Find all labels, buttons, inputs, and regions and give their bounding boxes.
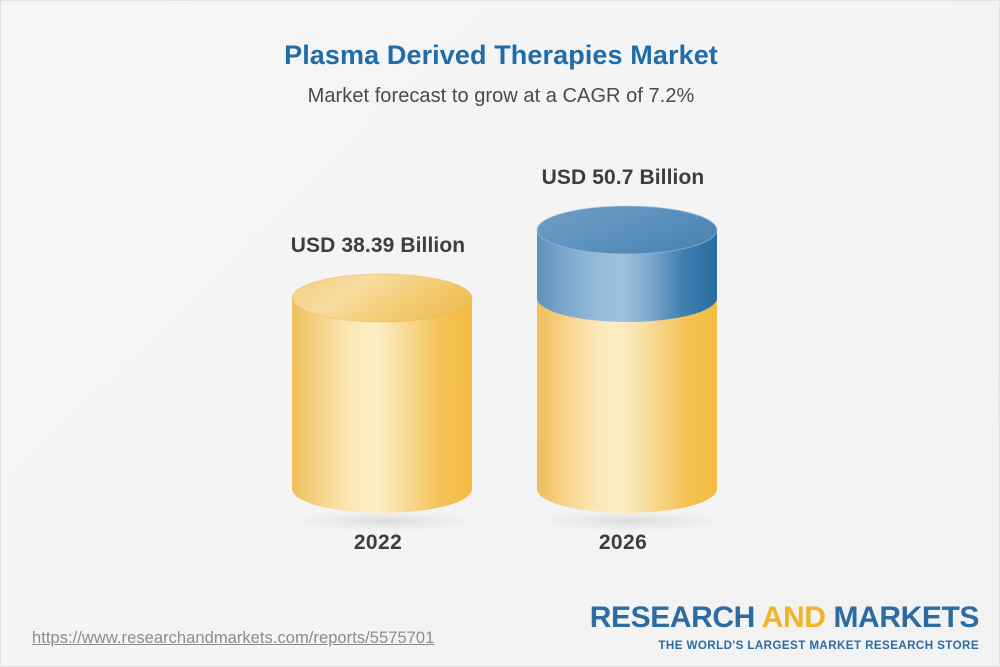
cylinder-2026 xyxy=(534,203,720,538)
infographic-canvas: Plasma Derived Therapies Market Market f… xyxy=(0,0,1000,667)
cylinder-2022-body xyxy=(292,298,472,513)
logo-wordmark: RESEARCH AND MARKETS xyxy=(590,603,979,633)
cylinder-2026-shadow xyxy=(534,510,720,532)
cylinder-2026-base-segment xyxy=(537,298,717,513)
value-label-2026: USD 50.7 Billion xyxy=(493,166,753,190)
logo-word-markets: MARKETS xyxy=(833,601,979,634)
category-label-2026: 2026 xyxy=(493,531,753,555)
report-url-link[interactable]: https://www.researchandmarkets.com/repor… xyxy=(32,629,434,648)
chart-plot-area: USD 38.39 Billion xyxy=(1,1,1000,667)
category-label-2022: 2022 xyxy=(248,531,508,555)
logo-word-research: RESEARCH xyxy=(590,601,755,634)
cylinder-2026-svg xyxy=(534,203,720,533)
research-and-markets-logo[interactable]: RESEARCH AND MARKETS THE WORLD'S LARGEST… xyxy=(590,603,979,652)
logo-tagline: THE WORLD'S LARGEST MARKET RESEARCH STOR… xyxy=(590,633,979,652)
value-label-2022: USD 38.39 Billion xyxy=(248,234,508,258)
cylinder-2022-svg xyxy=(289,271,475,533)
logo-word-and: AND xyxy=(755,601,834,634)
chart-footer: https://www.researchandmarkets.com/repor… xyxy=(1,594,1000,666)
cylinder-2022-shadow xyxy=(289,510,475,532)
cylinder-2022 xyxy=(289,271,475,538)
